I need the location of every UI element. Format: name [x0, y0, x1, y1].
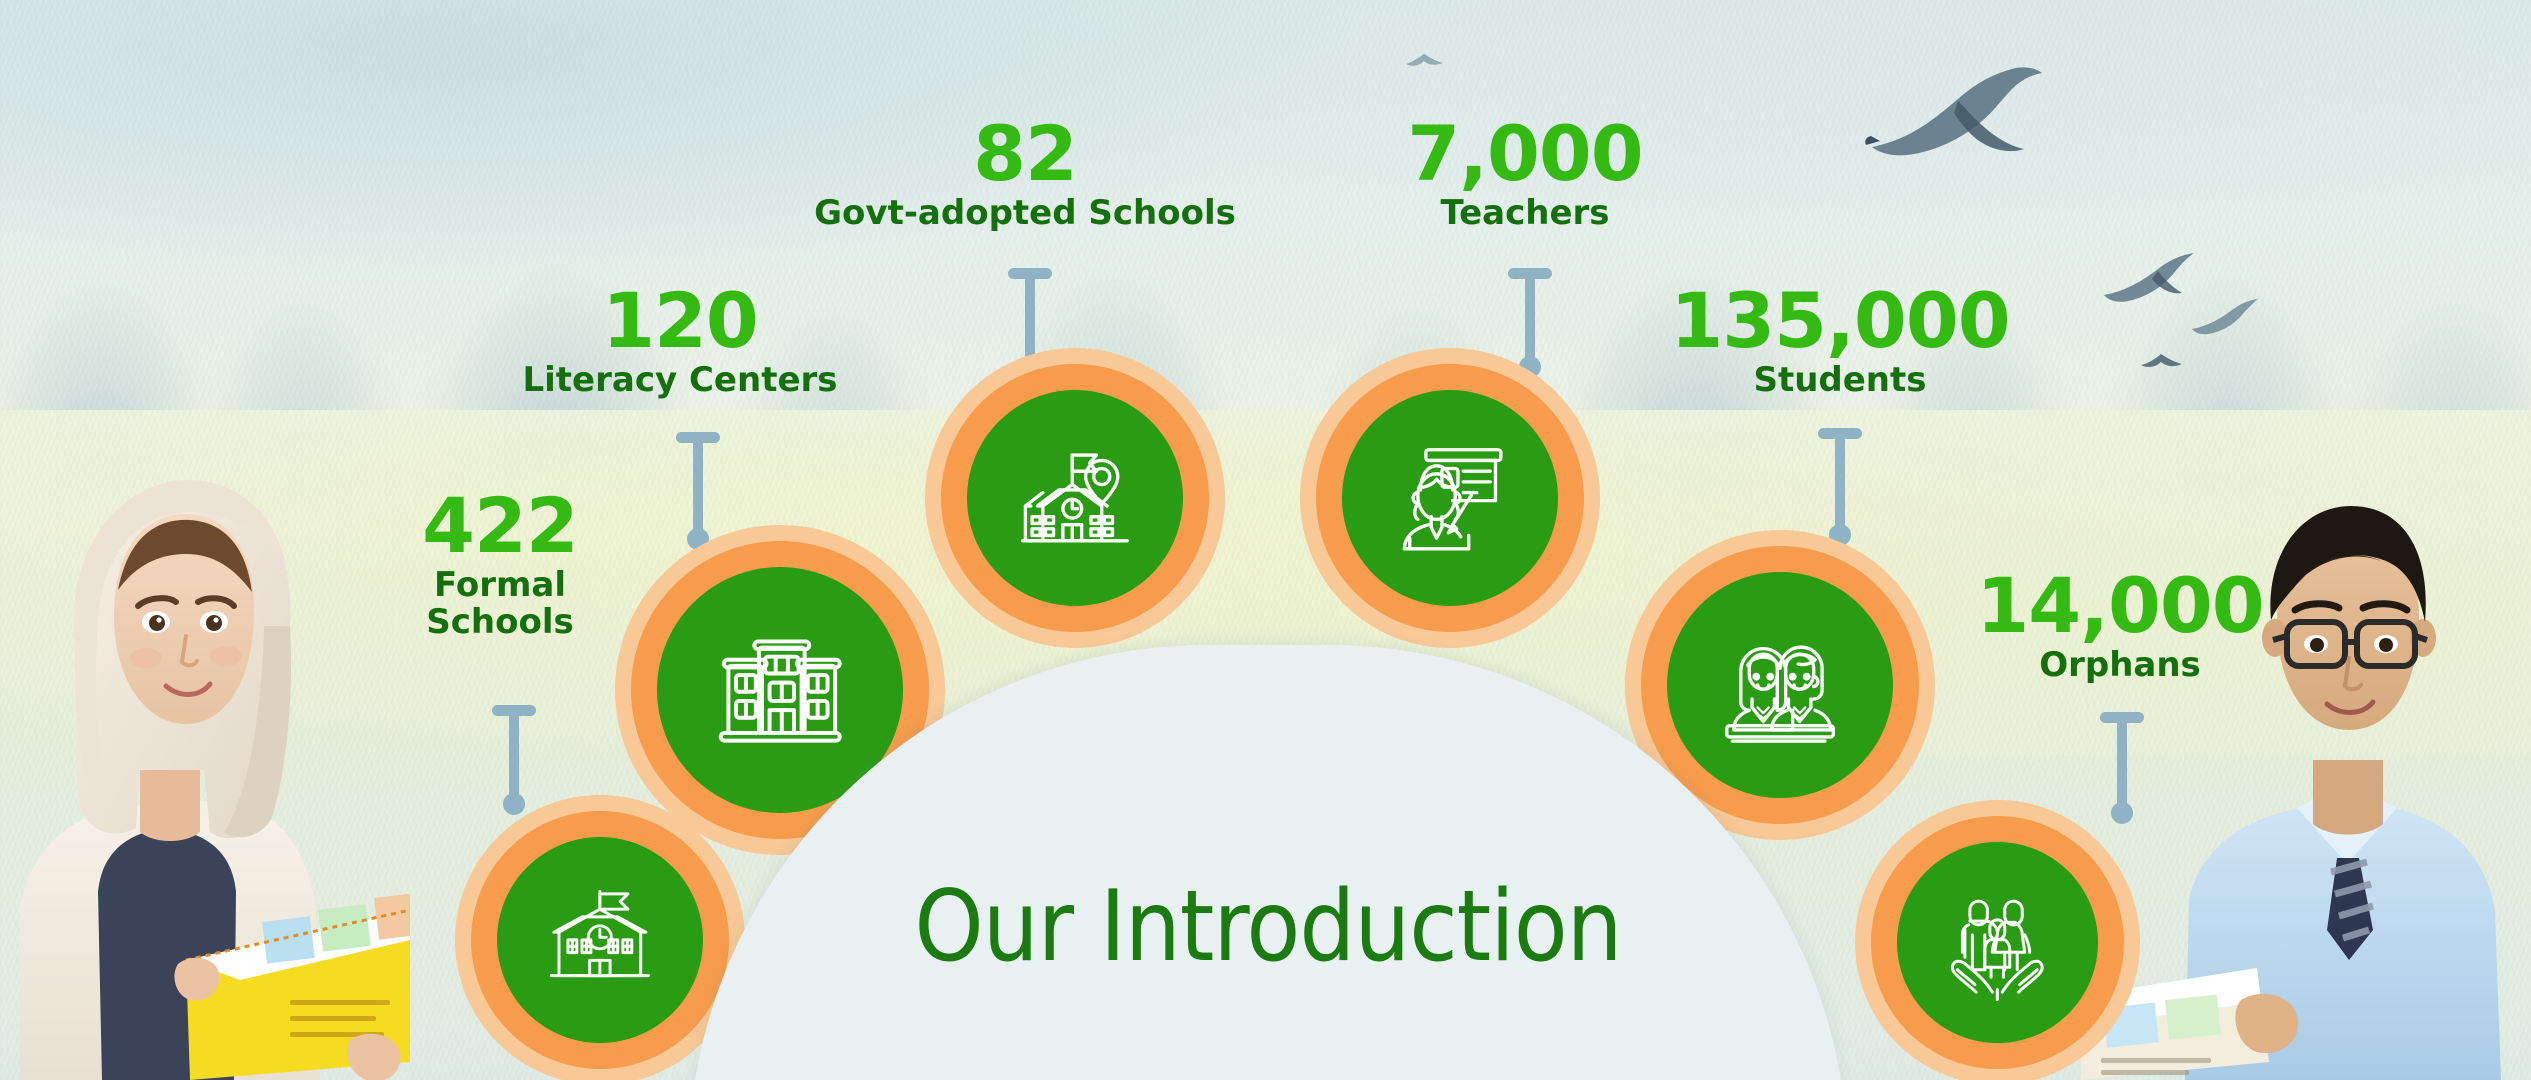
stat-number-literacy-centers: 120	[520, 285, 840, 358]
schoolboy-with-glasses-photo	[2081, 460, 2531, 1080]
school-building-icon	[536, 876, 664, 1004]
stat-formal-schools: 422 Formal Schools	[380, 490, 620, 640]
stat-label-govt-adopted-schools: Govt-adopted Schools	[790, 195, 1260, 232]
stat-label-formal-schools: Formal Schools	[380, 567, 620, 640]
stat-literacy-centers: 120 Literacy Centers	[520, 285, 840, 399]
stat-students: 135,000 Students	[1650, 285, 2030, 399]
teacher-whiteboard-icon	[1383, 431, 1517, 565]
bird-small-icon	[2190, 295, 2268, 337]
circle-govt-adopted-schools	[925, 348, 1225, 648]
node-teachers[interactable]	[1300, 348, 1600, 648]
stat-number-students: 135,000	[1650, 285, 2030, 358]
circle-orphans	[1855, 800, 2140, 1080]
schoolgirl-reading-book-photo	[0, 440, 410, 1080]
school-location-pin-icon	[1008, 431, 1142, 565]
our-introduction-banner: Our Introduction 422 Formal Schools 120 …	[0, 0, 2531, 1080]
stat-govt-adopted-schools: 82 Govt-adopted Schools	[790, 118, 1260, 232]
hands-holding-family-icon	[1935, 880, 2060, 1005]
stat-label-teachers: Teachers	[1380, 195, 1670, 232]
stat-label-students: Students	[1650, 362, 2030, 399]
stat-label-literacy-centers: Literacy Centers	[520, 362, 840, 399]
stat-number-govt-adopted-schools: 82	[790, 118, 1260, 191]
stat-number-formal-schools: 422	[380, 490, 620, 563]
node-govt-adopted-schools[interactable]	[925, 348, 1225, 648]
modern-building-icon	[704, 614, 857, 767]
stat-number-teachers: 7,000	[1380, 118, 1670, 191]
stat-number-orphans: 14,000	[1945, 570, 2295, 643]
stat-label-orphans: Orphans	[1945, 647, 2295, 684]
page-title: Our Introduction	[688, 870, 1848, 984]
two-students-desk-icon	[1710, 615, 1850, 755]
bird-tiny-icon	[1405, 50, 1445, 70]
bird-tiny-2-icon	[2140, 350, 2184, 372]
stat-teachers: 7,000 Teachers	[1380, 118, 1670, 232]
node-orphans[interactable]	[1855, 800, 2140, 1080]
circle-teachers	[1300, 348, 1600, 648]
stat-orphans: 14,000 Orphans	[1945, 570, 2295, 684]
bird-large-icon	[1862, 55, 2052, 175]
